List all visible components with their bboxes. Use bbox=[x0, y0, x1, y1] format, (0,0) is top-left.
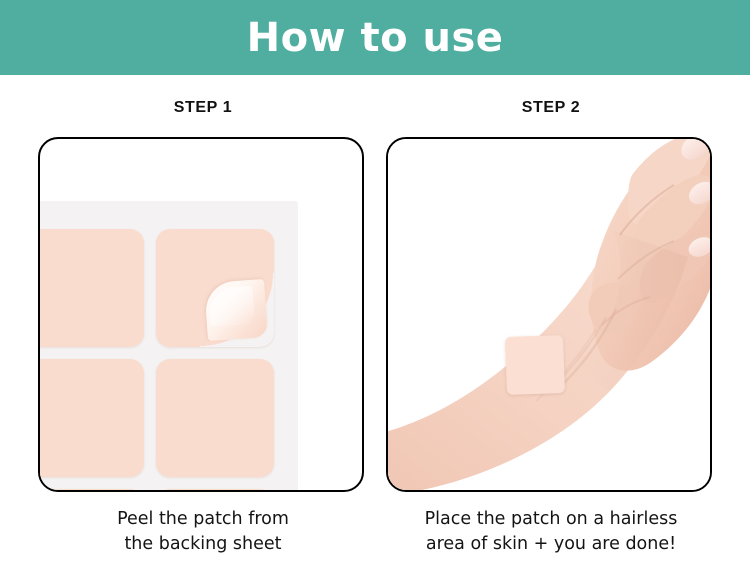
arm-illustration bbox=[388, 139, 710, 490]
step-1-caption: Peel the patch from the backing sheet bbox=[30, 507, 376, 558]
patch-tile bbox=[156, 359, 274, 477]
patch-grid bbox=[38, 201, 298, 492]
step-1-illustration-card bbox=[38, 137, 364, 492]
step-column-2: STEP 2 bbox=[386, 75, 716, 586]
patch-tile bbox=[38, 359, 144, 477]
page-title: How to use bbox=[247, 18, 504, 58]
backing-sheet bbox=[38, 201, 298, 492]
patch-tile bbox=[38, 229, 144, 347]
steps-row: STEP 1 Peel the patch from bbox=[0, 75, 750, 586]
step-column-1: STEP 1 Peel the patch from bbox=[38, 75, 368, 586]
header-banner: How to use bbox=[0, 0, 750, 75]
patch-tile bbox=[38, 489, 144, 492]
step-2-caption-line-2: area of skin + you are done! bbox=[378, 532, 724, 557]
step-1-label: STEP 1 bbox=[38, 99, 368, 117]
forearm-hand-graphic bbox=[388, 139, 710, 490]
patch-tile bbox=[156, 489, 274, 492]
applied-patch bbox=[505, 335, 565, 395]
step-2-illustration-card bbox=[386, 137, 712, 492]
step-2-caption: Place the patch on a hairless area of sk… bbox=[378, 507, 724, 558]
step-1-caption-line-1: Peel the patch from bbox=[30, 507, 376, 532]
step-2-caption-line-1: Place the patch on a hairless bbox=[378, 507, 724, 532]
step-2-label: STEP 2 bbox=[386, 99, 716, 117]
peeling-patch-corner bbox=[156, 229, 274, 347]
step-1-caption-line-2: the backing sheet bbox=[30, 532, 376, 557]
